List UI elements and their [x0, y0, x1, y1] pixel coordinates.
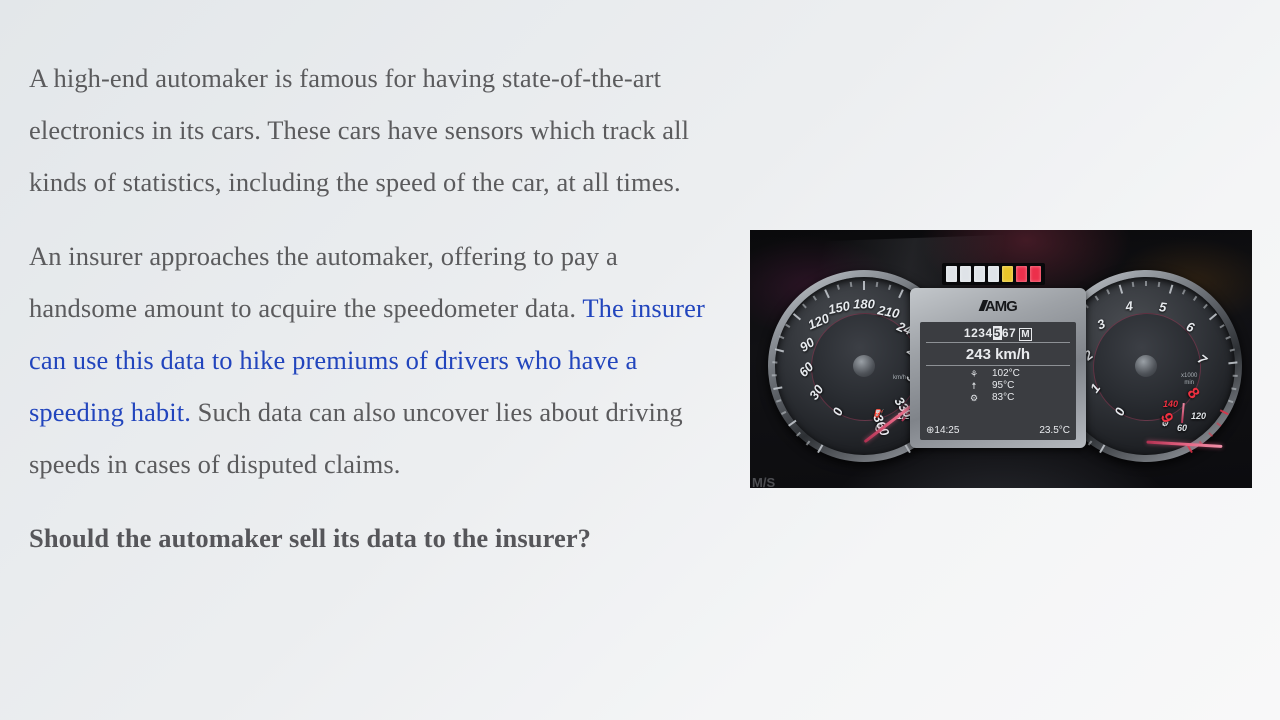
tick-minor — [888, 285, 891, 290]
coolant-temp-icon: ☨ — [964, 380, 984, 392]
paragraph-insurer-offer: An insurer approaches the automaker, off… — [29, 230, 709, 490]
tick-major — [824, 289, 830, 298]
tick-minor — [1193, 296, 1197, 301]
tick-minor — [785, 324, 790, 328]
dial-number-3: 3 — [1095, 316, 1107, 333]
temperature-list: ⚘102°C☨95°C⚙83°C — [926, 366, 1070, 404]
insurer-offer-text: An insurer approaches the automaker, off… — [29, 241, 618, 323]
tick-minor — [772, 375, 777, 377]
tick-minor — [876, 282, 878, 287]
tick-major — [1099, 444, 1105, 453]
oil-label-120: 120 — [1191, 411, 1206, 421]
amg-badge: ////AMG — [910, 298, 1086, 315]
tick-minor — [796, 432, 801, 437]
gear-6: 6 — [1002, 326, 1009, 340]
tick-major — [1228, 361, 1237, 364]
gear-indicator-row: 1234567M — [926, 326, 1070, 343]
tick-minor — [813, 296, 817, 301]
tick-minor — [1182, 289, 1185, 294]
oil-label-140: 140 — [1163, 399, 1178, 409]
tick-major — [1169, 285, 1173, 294]
tachometer-hub — [1135, 355, 1157, 377]
oil-temp-icon: ⚘ — [964, 368, 984, 380]
clock-readout: ⊕14:25 — [926, 425, 959, 436]
dial-number-150: 150 — [827, 298, 851, 317]
tick-major — [793, 313, 801, 320]
tick-major — [775, 348, 784, 352]
tick-minor — [1228, 400, 1233, 403]
paragraph-scenario: A high-end automaker is famous for havin… — [29, 52, 709, 208]
tick-major — [898, 289, 904, 298]
tick-minor — [1231, 387, 1236, 389]
transmission-mode: M — [1019, 328, 1032, 341]
photo-watermark: M/S — [752, 475, 775, 488]
temperature-row: ⚙83°C — [926, 392, 1070, 404]
speedometer-hub — [853, 355, 875, 377]
instrument-cluster-photo: km/h 1/2 0 1 ⛽ 0306090120150180210240270… — [750, 230, 1252, 488]
shift-led-3 — [974, 266, 985, 282]
tick-minor — [776, 400, 781, 403]
transmission-temp-icon: ⚙ — [964, 392, 984, 404]
gear-5: 5 — [993, 326, 1002, 340]
temperature-value: 95°C — [992, 380, 1032, 392]
text-column: A high-end automaker is famous for havin… — [29, 52, 709, 564]
tick-major — [1220, 409, 1229, 415]
outside-temperature: 23.5°C — [1039, 425, 1070, 436]
tick-major — [817, 444, 823, 453]
shift-light-bar — [942, 263, 1045, 285]
amg-slashes: //// — [979, 298, 984, 315]
digital-speed-readout: 243 km/h — [926, 343, 1070, 366]
tick-minor — [772, 362, 777, 364]
dial-number-5: 5 — [1158, 299, 1167, 315]
tick-minor — [1203, 304, 1207, 309]
tick-major — [773, 386, 782, 390]
tick-minor — [1219, 324, 1224, 328]
tick-major — [788, 420, 797, 427]
lcd-display: 1234567M 243 km/h ⚘102°C☨95°C⚙83°C ⊕14:2… — [920, 322, 1076, 440]
discussion-question: Should the automaker sell its data to th… — [29, 512, 709, 564]
temperature-value: 102°C — [992, 368, 1032, 380]
tick-minor — [802, 304, 806, 309]
tick-major — [1119, 285, 1123, 294]
tick-minor — [1158, 282, 1160, 287]
shift-led-1 — [946, 266, 957, 282]
tick-minor — [1106, 289, 1109, 294]
temperature-row: ⚘102°C — [926, 368, 1070, 380]
shift-led-6 — [1016, 266, 1027, 282]
oil-label-60: 60 — [1177, 423, 1187, 433]
temperature-value: 83°C — [992, 392, 1032, 404]
shift-led-7 — [1030, 266, 1041, 282]
tick-minor — [781, 411, 786, 415]
amg-wordmark: AMG — [985, 298, 1017, 315]
tick-minor — [1225, 336, 1230, 339]
oil-needle — [1181, 403, 1185, 423]
slide: A high-end automaker is famous for havin… — [0, 0, 1280, 720]
gear-4: 4 — [985, 326, 992, 340]
shift-led-5 — [1002, 266, 1013, 282]
tick-minor — [1230, 348, 1235, 351]
shift-led-2 — [960, 266, 971, 282]
tick-major — [905, 444, 911, 453]
dial-number-4: 4 — [1125, 298, 1134, 314]
shift-led-4 — [988, 266, 999, 282]
temperature-row: ☨95°C — [926, 380, 1070, 392]
tachometer-unit-top: x1000 — [1181, 373, 1197, 380]
tick-minor — [1095, 296, 1099, 301]
lcd-footer: ⊕14:25 23.5°C — [926, 425, 1070, 436]
dial-number-6: 6 — [1184, 319, 1196, 336]
tick-minor — [779, 336, 784, 339]
tick-major — [863, 281, 865, 290]
tick-minor — [837, 285, 840, 290]
tick-minor — [1145, 281, 1147, 286]
tick-minor — [850, 282, 852, 287]
center-console: ////AMG 1234567M 243 km/h ⚘102°C☨95°C⚙83… — [910, 288, 1086, 448]
dial-number-180: 180 — [853, 297, 875, 312]
clock-time: 14:25 — [934, 425, 959, 436]
tick-minor — [1132, 282, 1134, 287]
gear-7: 7 — [1009, 326, 1016, 340]
tick-minor — [1233, 375, 1238, 377]
tick-major — [1209, 313, 1217, 320]
